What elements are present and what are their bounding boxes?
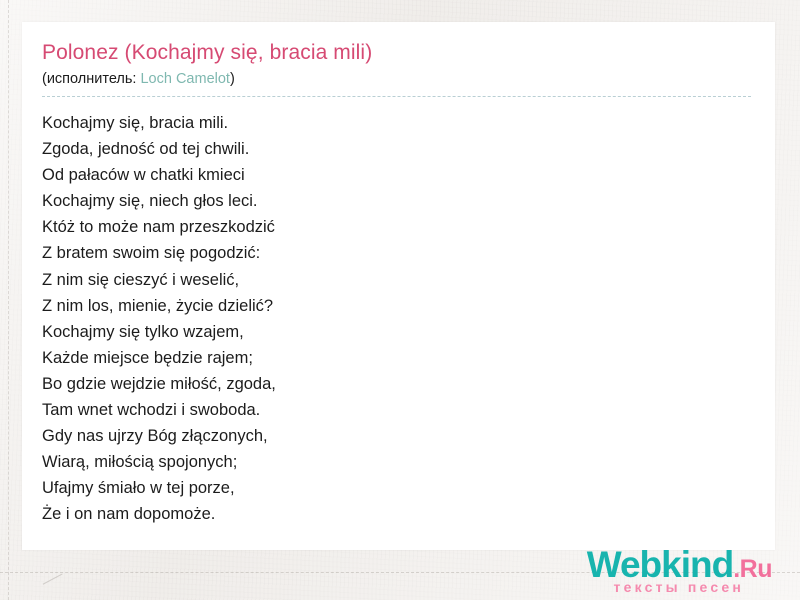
lyrics-line: Zgoda, jedność od tej chwili. [42, 136, 751, 162]
lyrics-line: Tam wnet wchodzi i swoboda. [42, 397, 751, 423]
lyrics-line: Bo gdzie wejdzie miłość, zgoda, [42, 371, 751, 397]
performer-prefix-label: (исполнитель: [42, 71, 140, 87]
lyrics-line: Że i on nam dopomoże. [42, 501, 751, 527]
lyrics-line: Któż to może nam przeszkodzić [42, 214, 751, 240]
lyrics-line: Kochajmy się, bracia mili. [42, 110, 751, 136]
lyrics-card-content: Polonez (Kochajmy się, bracia mili) (исп… [22, 22, 775, 528]
performer-suffix-label: ) [230, 71, 235, 87]
site-watermark-logo: Webkind.Ru тексты песен [587, 546, 772, 594]
lyrics-line: Każde miejsce będzie rajem; [42, 345, 751, 371]
lyrics-line: Kochajmy się tylko wzajem, [42, 319, 751, 345]
background-vertical-guide [8, 0, 9, 600]
lyrics-line: Ufajmy śmiało w tej porze, [42, 475, 751, 501]
lyrics-text: Kochajmy się, bracia mili. Zgoda, jednoś… [42, 97, 751, 528]
lyrics-card: Polonez (Kochajmy się, bracia mili) (исп… [22, 22, 775, 550]
performer-link[interactable]: Loch Camelot [140, 71, 229, 87]
page-title: Polonez (Kochajmy się, bracia mili) [42, 40, 751, 66]
lyrics-line: Kochajmy się, niech głos leci. [42, 188, 751, 214]
performer-line: (исполнитель: Loch Camelot) [42, 70, 751, 97]
lyrics-line: Z nim się cieszyć i weselić, [42, 267, 751, 293]
lyrics-line: Wiarą, miłością spojonych; [42, 449, 751, 475]
lyrics-line: Od pałaców w chatki kmieci [42, 162, 751, 188]
lyrics-line: Z nim los, mienie, życie dzielić? [42, 293, 751, 319]
lyrics-line: Z bratem swoim się pogodzić: [42, 240, 751, 266]
lyrics-line: Gdy nas ujrzy Bóg złączonych, [42, 423, 751, 449]
